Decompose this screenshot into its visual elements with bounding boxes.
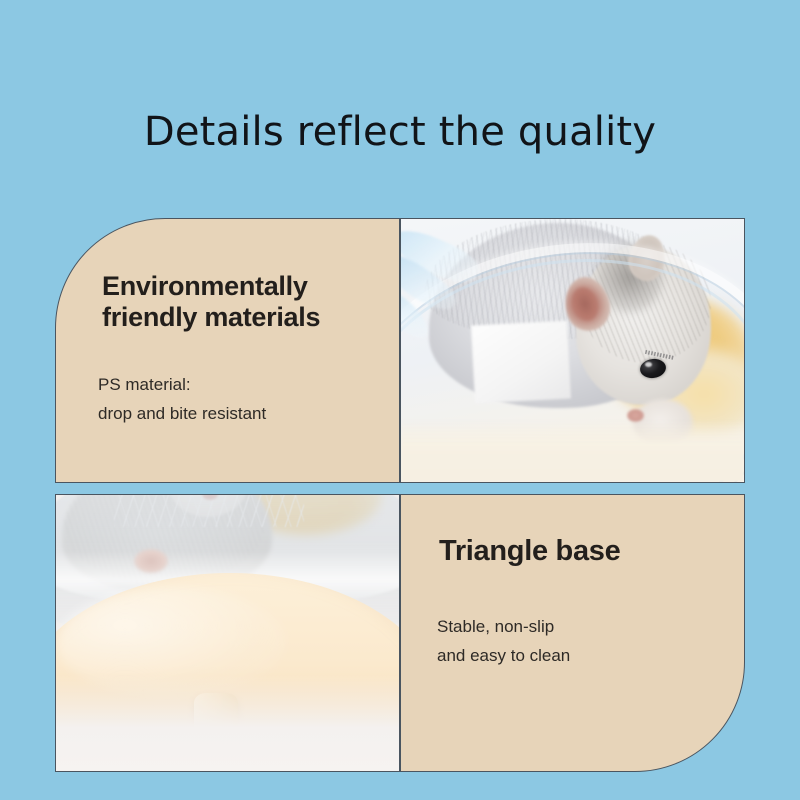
collage-row-top: Environmentally friendly materials PS ma…	[55, 218, 745, 483]
bathroom-base-photo	[56, 495, 399, 771]
product-feature-page: Details reflect the quality Environmenta…	[0, 0, 800, 800]
feature-body-line: Stable, non-slip	[437, 613, 727, 642]
feature-panel-environmentally-friendly-materials: Environmentally friendly materials PS ma…	[55, 218, 400, 483]
collage-row-bottom: Triangle base Stable, non-slip and easy …	[55, 494, 745, 772]
feature-panel-triangle-base: Triangle base Stable, non-slip and easy …	[400, 494, 745, 772]
feature-photo-bathroom-base	[55, 494, 400, 772]
hamster-eye-glint	[645, 362, 652, 367]
table-surface	[56, 675, 399, 771]
feature-body-line: and easy to clean	[437, 642, 727, 671]
page-title: Details reflect the quality	[0, 109, 800, 155]
feature-content: Triangle base Stable, non-slip and easy …	[401, 495, 744, 771]
feature-collage: Environmentally friendly materials PS ma…	[55, 218, 745, 772]
feature-content: Environmentally friendly materials PS ma…	[56, 219, 399, 482]
feature-body: Stable, non-slip and easy to clean	[437, 613, 727, 671]
feature-heading: Environmentally friendly materials	[102, 271, 392, 333]
feature-heading-line: Environmentally	[102, 271, 392, 302]
feature-heading-line: friendly materials	[102, 302, 392, 333]
feature-heading-line: Triangle base	[439, 535, 729, 568]
surface-shelf	[401, 420, 744, 482]
feature-body-line: PS material:	[98, 371, 388, 400]
hamster-wheel-photo	[401, 219, 744, 482]
hamster-paw	[134, 549, 168, 573]
feature-heading: Triangle base	[439, 535, 729, 568]
feature-body: PS material: drop and bite resistant	[98, 371, 388, 429]
feature-photo-hamster-in-wheel	[400, 218, 745, 483]
feature-body-line: drop and bite resistant	[98, 400, 388, 429]
